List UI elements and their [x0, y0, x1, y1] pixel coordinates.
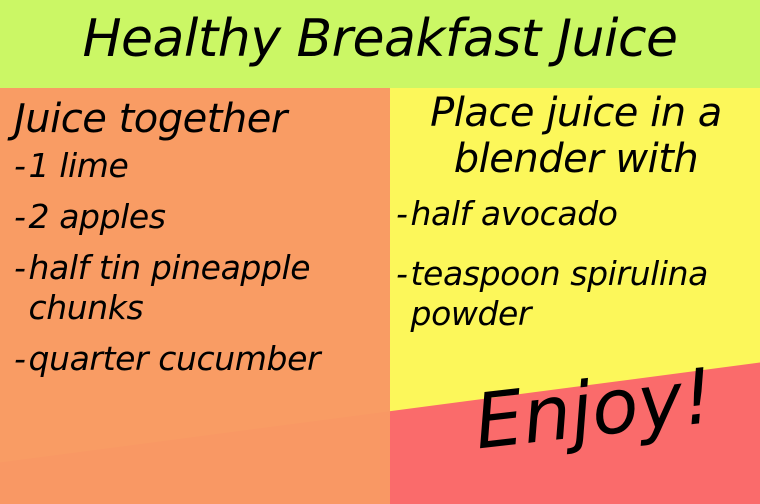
list-item: - teaspoon spirulina powder	[396, 254, 756, 334]
list-item: - half avocado	[396, 194, 756, 234]
right-column: Place juice in a blender with - half avo…	[396, 90, 756, 354]
left-ingredient-list: - 1 lime - 2 apples - half tin pineapple…	[14, 146, 386, 379]
bullet-dash: -	[14, 146, 29, 186]
right-column-heading: Place juice in a blender with	[396, 90, 756, 182]
ingredient-label: 2 apples	[29, 197, 386, 237]
bullet-dash: -	[396, 254, 411, 294]
recipe-poster: Healthy Breakfast Juice Juice together -…	[0, 0, 760, 504]
ingredient-label: half avocado	[411, 194, 756, 234]
page-title: Healthy Breakfast Juice	[0, 7, 760, 71]
list-item: - 1 lime	[14, 146, 386, 186]
left-column-heading: Juice together	[14, 96, 386, 142]
ingredient-label: 1 lime	[29, 146, 386, 186]
list-item: - half tin pineapple chunks	[14, 248, 386, 328]
ingredient-label: half tin pineapple chunks	[29, 248, 386, 328]
poster-header: Healthy Breakfast Juice	[0, 0, 760, 88]
list-item: - 2 apples	[14, 197, 386, 237]
left-column: Juice together - 1 lime - 2 apples - hal…	[14, 96, 386, 390]
bullet-dash: -	[14, 339, 29, 379]
bullet-dash: -	[14, 248, 29, 288]
right-ingredient-list: - half avocado - teaspoon spirulina powd…	[396, 194, 756, 334]
ingredient-label: quarter cucumber	[29, 339, 386, 379]
list-item: - quarter cucumber	[14, 339, 386, 379]
ingredient-label: teaspoon spirulina powder	[411, 254, 756, 334]
bullet-dash: -	[396, 194, 411, 234]
bullet-dash: -	[14, 197, 29, 237]
